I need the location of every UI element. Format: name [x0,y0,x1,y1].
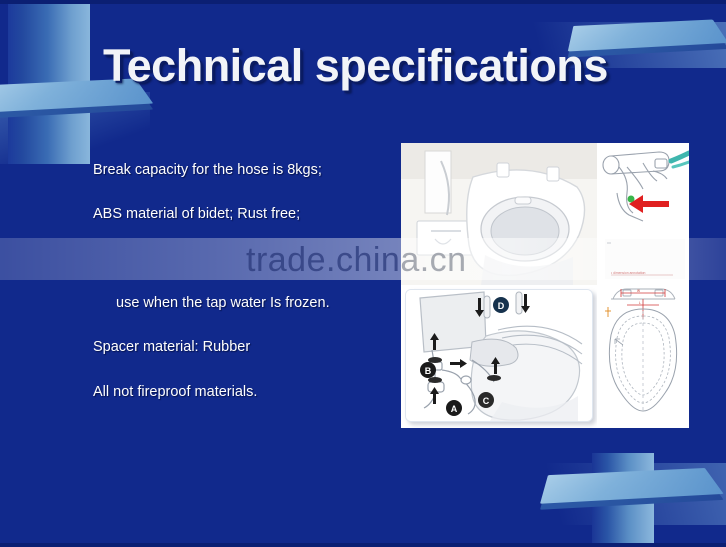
glass-slab-icon-bottom-right [546,455,716,513]
list-item: ABS material of bidet; Rust free; [93,206,393,223]
svg-text:A: A [451,404,458,414]
slide-canvas: Technical specifications Break capacity … [0,0,726,547]
step-badge: D [493,297,509,313]
step-badge: B [420,362,436,378]
svg-text:D: D [498,301,505,311]
page-title: Technical specifications [103,40,608,92]
list-item: All not fireproof materials. [93,384,393,401]
step-badge: A [446,400,462,416]
svg-text:W: W [637,289,640,293]
step-badge: C [478,392,494,408]
slide-frame-bottom [0,543,726,547]
svg-text:• dimension annotation: • dimension annotation [611,271,645,275]
specification-list: Break capacity for the hose is 8kgs; ABS… [93,162,393,428]
slide-frame-top [0,0,726,4]
svg-text:B: B [425,366,432,376]
svg-text:L: L [639,301,641,305]
list-item [93,251,393,268]
seat-dimensions-drawing: W L [597,285,689,428]
installation-steps-diagram: B A C D [401,285,597,428]
image-row-top: • dimension annotation [401,143,689,285]
hose-connection-diagram: • dimension annotation [597,143,689,285]
image-row-bottom: B A C D [401,285,689,428]
list-item: Spacer material: Rubber [93,339,393,356]
toilet-seat-photo [401,143,597,285]
list-item: Break capacity for the hose is 8kgs; [93,162,393,179]
product-image-block: • dimension annotation [401,143,689,428]
list-item: use when the tap water Is frozen. [93,295,393,312]
svg-text:C: C [483,396,490,406]
